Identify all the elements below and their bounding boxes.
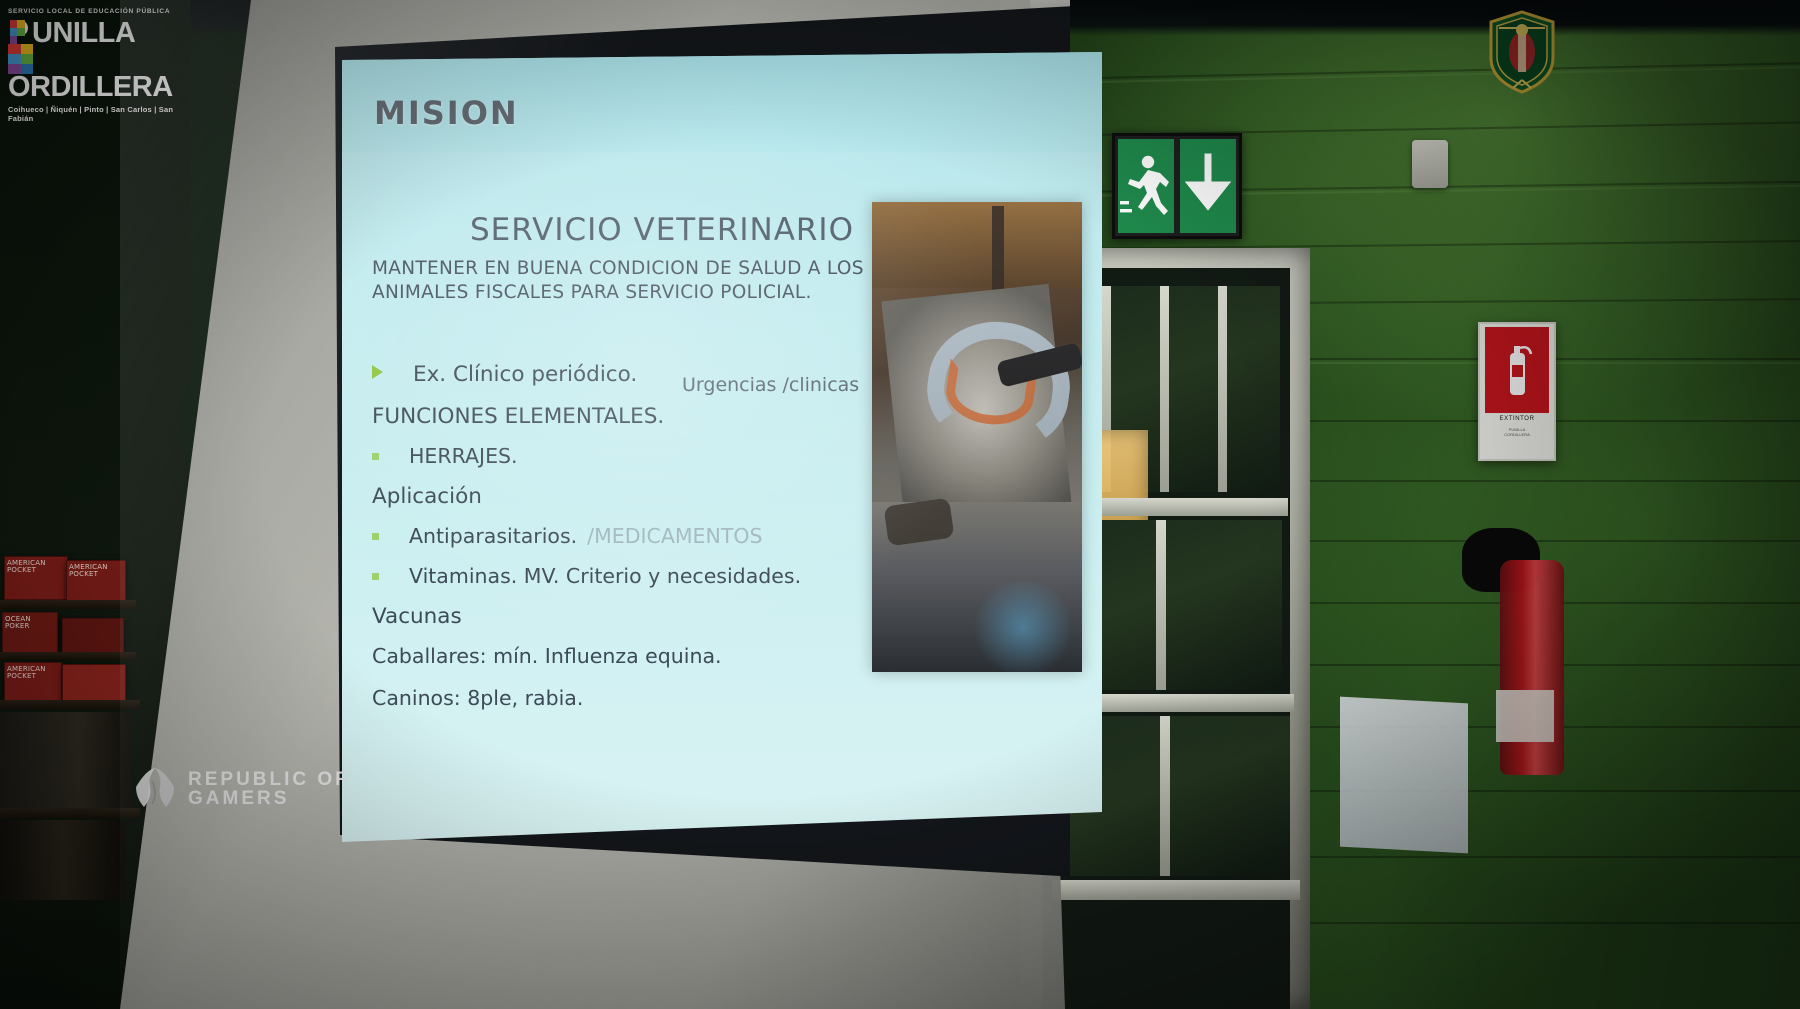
wall-plank-line — [1310, 922, 1800, 924]
rog-line1: REPUBLIC OF — [188, 769, 350, 790]
punilla-cordillera-watermark: SERVICIO LOCAL DE EDUCACIÓN PÚBLICA UNIL… — [8, 8, 188, 83]
farrier-horseshoe-photo — [872, 202, 1082, 672]
slide-bullet-text: Ex. Clínico periódico. — [413, 362, 637, 387]
fire-extinguisher-sign: EXTINTOR PUNILLACORDILLERA — [1478, 322, 1556, 461]
slide-bullet-text: HERRAJES. — [409, 444, 518, 468]
slide-heading: SERVICIO VETERINARIO — [470, 212, 854, 248]
storage-box-label: AMERICANPOCKET — [5, 663, 61, 684]
storage-box: AMERICANPOCKET — [66, 560, 126, 602]
square-bullet-icon — [372, 533, 379, 540]
storage-box: OCEANPOKER — [2, 612, 58, 654]
watermark-communes: Coihueco | Ñiquén | Pinto | San Carlos |… — [8, 105, 188, 123]
slide-bullet-text: Antiparasitarios. — [409, 524, 577, 548]
projected-slide: MISION SERVICIO VETERINARIO MANTENER EN … — [342, 52, 1102, 842]
slide-bullet-text: Caninos: 8ple, rabia. — [372, 686, 583, 710]
triangle-bullet-icon — [372, 365, 383, 379]
rog-label: REPUBLIC OF GAMERS — [188, 770, 350, 809]
slide-bullet-row: Ex. Clínico periódico. — [372, 362, 637, 387]
photo-shade — [872, 202, 1082, 672]
storage-box: AMERICANPOCKET — [4, 556, 68, 600]
rog-eye-icon — [132, 765, 178, 813]
storage-box-label: AMERICANPOCKET — [67, 561, 125, 582]
door-rail — [1052, 880, 1300, 900]
slide-bullet-row: Aplicación — [372, 484, 482, 509]
storage-box — [62, 664, 126, 702]
slide-bullet-row: HERRAJES. — [372, 444, 518, 468]
slide-lead-paragraph: MANTENER EN BUENA CONDICION DE SALUD A L… — [372, 257, 892, 304]
shelf-plank — [0, 652, 136, 660]
slide-content: SERVICIO VETERINARIO MANTENER EN BUENA C… — [342, 52, 1102, 842]
stacked-books — [0, 820, 126, 900]
slide-bullet-text: FUNCIONES ELEMENTALES. — [372, 404, 664, 429]
door-mullion — [1160, 286, 1169, 492]
wall-plank-line — [1310, 480, 1800, 482]
slide-bullet-text: Caballares: mín. Influenza equina. — [372, 644, 722, 668]
posted-notice — [1340, 697, 1468, 854]
shelf-plank — [0, 808, 140, 818]
slide-bullet-row: Antiparasitarios. /MEDICAMENTOS — [372, 524, 763, 548]
emergency-exit-sign — [1112, 133, 1242, 239]
rog-watermark: REPUBLIC OF GAMERS — [132, 758, 382, 820]
watermark-org-top: SERVICIO LOCAL DE EDUCACIÓN PÚBLICA — [8, 8, 188, 15]
storage-box-label: AMERICANPOCKET — [5, 557, 67, 578]
wall-plank-line — [1310, 856, 1800, 858]
slide-side-note: Urgencias /clinicas — [682, 374, 859, 396]
slide-bullet-row: Caballares: mín. Influenza equina. — [372, 644, 722, 668]
slide-bullet-text: Aplicación — [372, 484, 482, 509]
fire-extinguisher — [1500, 560, 1564, 775]
photo-of-projected-slide: AMERICANPOCKET AMERICANPOCKET OCEANPOKER… — [0, 0, 1800, 1009]
square-bullet-icon — [372, 453, 379, 460]
storage-box — [62, 618, 124, 654]
rog-line2: GAMERS — [188, 788, 289, 809]
down-arrow-icon — [1180, 139, 1236, 233]
logo-c-mark — [8, 44, 33, 74]
door-mullion — [1156, 520, 1166, 690]
institutional-crest — [1487, 10, 1557, 94]
slide-bullet-row: FUNCIONES ELEMENTALES. — [372, 404, 664, 429]
slide-bullet-row: Caninos: 8ple, rabia. — [372, 686, 583, 710]
slide-bullet-text: Vacunas — [372, 604, 462, 629]
stacked-books — [0, 712, 132, 808]
slide-bullet-text: Vitaminas. MV. Criterio y necesidades. — [409, 564, 801, 588]
storage-box-label: OCEANPOKER — [3, 613, 57, 634]
fire-extinguisher-tag — [1496, 690, 1554, 742]
watermark-org-line1: UNILLA — [32, 17, 135, 49]
extinguisher-sign-footer: PUNILLACORDILLERA — [1504, 428, 1530, 438]
fire-extinguisher-icon — [1485, 327, 1549, 413]
running-person-icon — [1118, 139, 1174, 233]
watermark-org-line2: ORDILLERA — [8, 71, 173, 103]
slide-bullet-row: Vacunas — [372, 604, 462, 629]
projection-screen-area: MISION SERVICIO VETERINARIO MANTENER EN … — [120, 0, 1070, 1009]
wall-switch[interactable] — [1412, 140, 1448, 188]
slide-bullet-row: Vitaminas. MV. Criterio y necesidades. — [372, 564, 801, 588]
square-bullet-icon — [372, 573, 379, 580]
door-mullion — [1218, 286, 1227, 492]
storage-box: AMERICANPOCKET — [4, 662, 62, 702]
shelf-plank — [0, 700, 140, 709]
shelf-plank — [0, 600, 136, 609]
wall-plank-line — [1310, 540, 1800, 542]
extinguisher-sign-label: EXTINTOR — [1499, 416, 1534, 422]
door-mullion — [1160, 716, 1170, 876]
slide-bullet-text-light: /MEDICAMENTOS — [587, 524, 762, 548]
